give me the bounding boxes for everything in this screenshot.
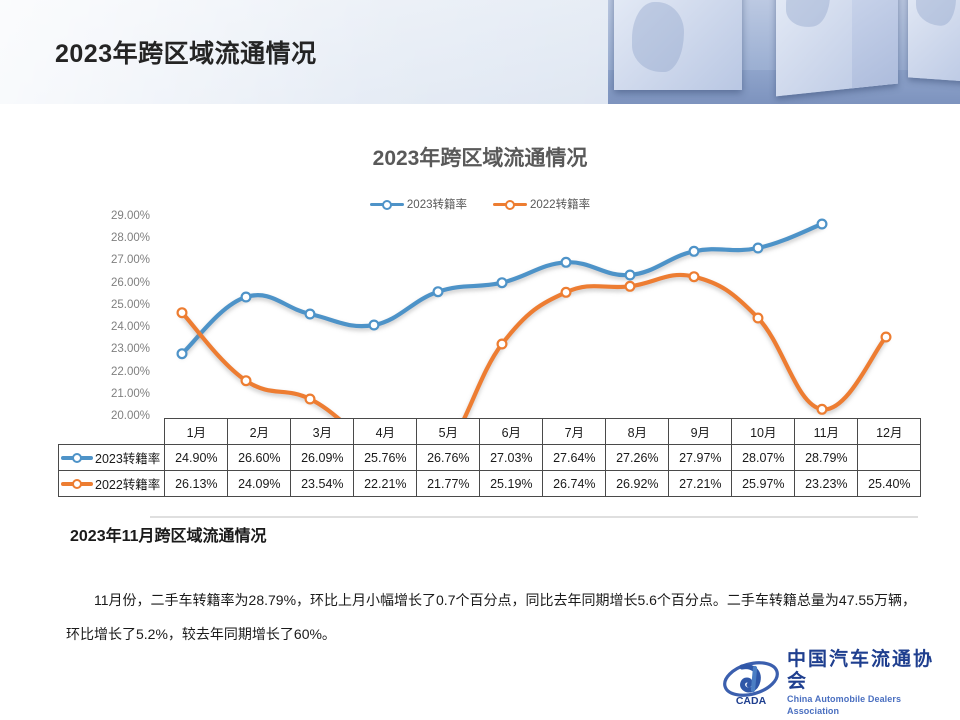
table-cell: 27.26% <box>606 445 669 471</box>
logo-text-block: 中国汽车流通协会 China Automobile Dealers Associ… <box>787 649 937 717</box>
cada-emblem-icon: CADA <box>722 659 780 707</box>
table-cell: 23.23% <box>795 471 858 497</box>
narrative-paragraph: 11月份，二手车转籍率为28.79%，环比上月小幅增长了0.7个百分点，同比去年… <box>66 583 916 651</box>
table-column-header: 12月 <box>858 419 921 445</box>
table-column-header: 4月 <box>354 419 417 445</box>
table-cell: 26.76% <box>417 445 480 471</box>
table-column-header: 10月 <box>732 419 795 445</box>
data-point-marker[interactable] <box>882 333 891 342</box>
table-cell: 26.13% <box>165 471 228 497</box>
data-point-marker[interactable] <box>242 376 251 385</box>
table-cell: 21.77% <box>417 471 480 497</box>
data-point-marker[interactable] <box>242 293 251 302</box>
logo-chinese-name: 中国汽车流通协会 <box>787 649 937 693</box>
slide-header: 2023年跨区域流通情况 <box>0 0 960 104</box>
table-cell: 25.76% <box>354 445 417 471</box>
table-column-header: 1月 <box>165 419 228 445</box>
table-row-header: 2023转籍率 <box>59 445 165 471</box>
data-point-marker[interactable] <box>754 314 763 323</box>
data-point-marker[interactable] <box>178 349 187 358</box>
data-point-marker[interactable] <box>626 282 635 291</box>
line-marker-circle-icon <box>61 478 93 489</box>
table-cell: 28.07% <box>732 445 795 471</box>
data-point-marker[interactable] <box>434 287 443 296</box>
table-cell: 27.64% <box>543 445 606 471</box>
table-cell: 26.09% <box>291 445 354 471</box>
data-point-marker[interactable] <box>690 272 699 281</box>
table-row: 2023转籍率24.90%26.60%26.09%25.76%26.76%27.… <box>59 445 921 471</box>
table-column-header: 8月 <box>606 419 669 445</box>
table-header-row: 1月2月3月4月5月6月7月8月9月10月11月12月 <box>59 419 921 445</box>
data-point-marker[interactable] <box>306 310 315 319</box>
table-column-header: 6月 <box>480 419 543 445</box>
table-row-header: 2022转籍率 <box>59 471 165 497</box>
table-cell: 28.79% <box>795 445 858 471</box>
table-corner-cell <box>59 419 165 445</box>
data-point-marker[interactable] <box>562 258 571 267</box>
page-title: 2023年跨区域流通情况 <box>55 34 317 70</box>
table-cell: 22.21% <box>354 471 417 497</box>
table-cell: 26.92% <box>606 471 669 497</box>
table-cell: 26.60% <box>228 445 291 471</box>
header-decorative-art <box>608 0 960 104</box>
table-column-header: 3月 <box>291 419 354 445</box>
table-cell: 25.97% <box>732 471 795 497</box>
data-point-marker[interactable] <box>818 405 827 414</box>
table-column-header: 7月 <box>543 419 606 445</box>
table-cell <box>858 445 921 471</box>
table-cell: 27.97% <box>669 445 732 471</box>
table-row-label: 2022转籍率 <box>95 474 160 493</box>
footer-logo: CADA 中国汽车流通协会 China Automobile Dealers A… <box>722 657 937 709</box>
table-cell: 25.19% <box>480 471 543 497</box>
slide-page: 2023年跨区域流通情况 2023年跨区域流通情况 2023转籍率 2022转籍… <box>0 0 960 720</box>
table-cell: 24.90% <box>165 445 228 471</box>
svg-text:CADA: CADA <box>736 695 767 707</box>
table-cell: 25.40% <box>858 471 921 497</box>
table-cell: 26.74% <box>543 471 606 497</box>
blue-cube-icon <box>614 0 742 90</box>
data-point-marker[interactable] <box>818 220 827 229</box>
data-point-marker[interactable] <box>626 271 635 280</box>
table-column-header: 2月 <box>228 419 291 445</box>
table-cell: 27.03% <box>480 445 543 471</box>
table-column-header: 11月 <box>795 419 858 445</box>
table-cell: 24.09% <box>228 471 291 497</box>
data-point-marker[interactable] <box>690 247 699 256</box>
chart-series-2023 <box>178 220 827 359</box>
table-row: 2022转籍率26.13%24.09%23.54%22.21%21.77%25.… <box>59 471 921 497</box>
data-point-marker[interactable] <box>370 321 379 330</box>
data-point-marker[interactable] <box>178 308 187 317</box>
table-row-label: 2023转籍率 <box>95 448 160 467</box>
table-cell: 27.21% <box>669 471 732 497</box>
table-cell: 23.54% <box>291 471 354 497</box>
line-marker-circle-icon <box>61 452 93 463</box>
table-column-header: 5月 <box>417 419 480 445</box>
data-point-marker[interactable] <box>754 244 763 253</box>
section-heading: 2023年11月跨区域流通情况 <box>70 522 267 546</box>
chart-title: 2023年跨区域流通情况 <box>0 142 960 172</box>
data-point-marker[interactable] <box>498 278 507 287</box>
data-point-marker[interactable] <box>306 395 315 404</box>
blue-cube-icon <box>908 0 960 83</box>
data-table: 1月2月3月4月5月6月7月8月9月10月11月12月 2023转籍率24.90… <box>58 418 921 497</box>
data-point-marker[interactable] <box>498 340 507 349</box>
blue-cube-icon <box>776 0 898 96</box>
data-point-marker[interactable] <box>562 288 571 297</box>
logo-english-name: China Automobile Dealers Association <box>787 693 937 717</box>
table-column-header: 9月 <box>669 419 732 445</box>
